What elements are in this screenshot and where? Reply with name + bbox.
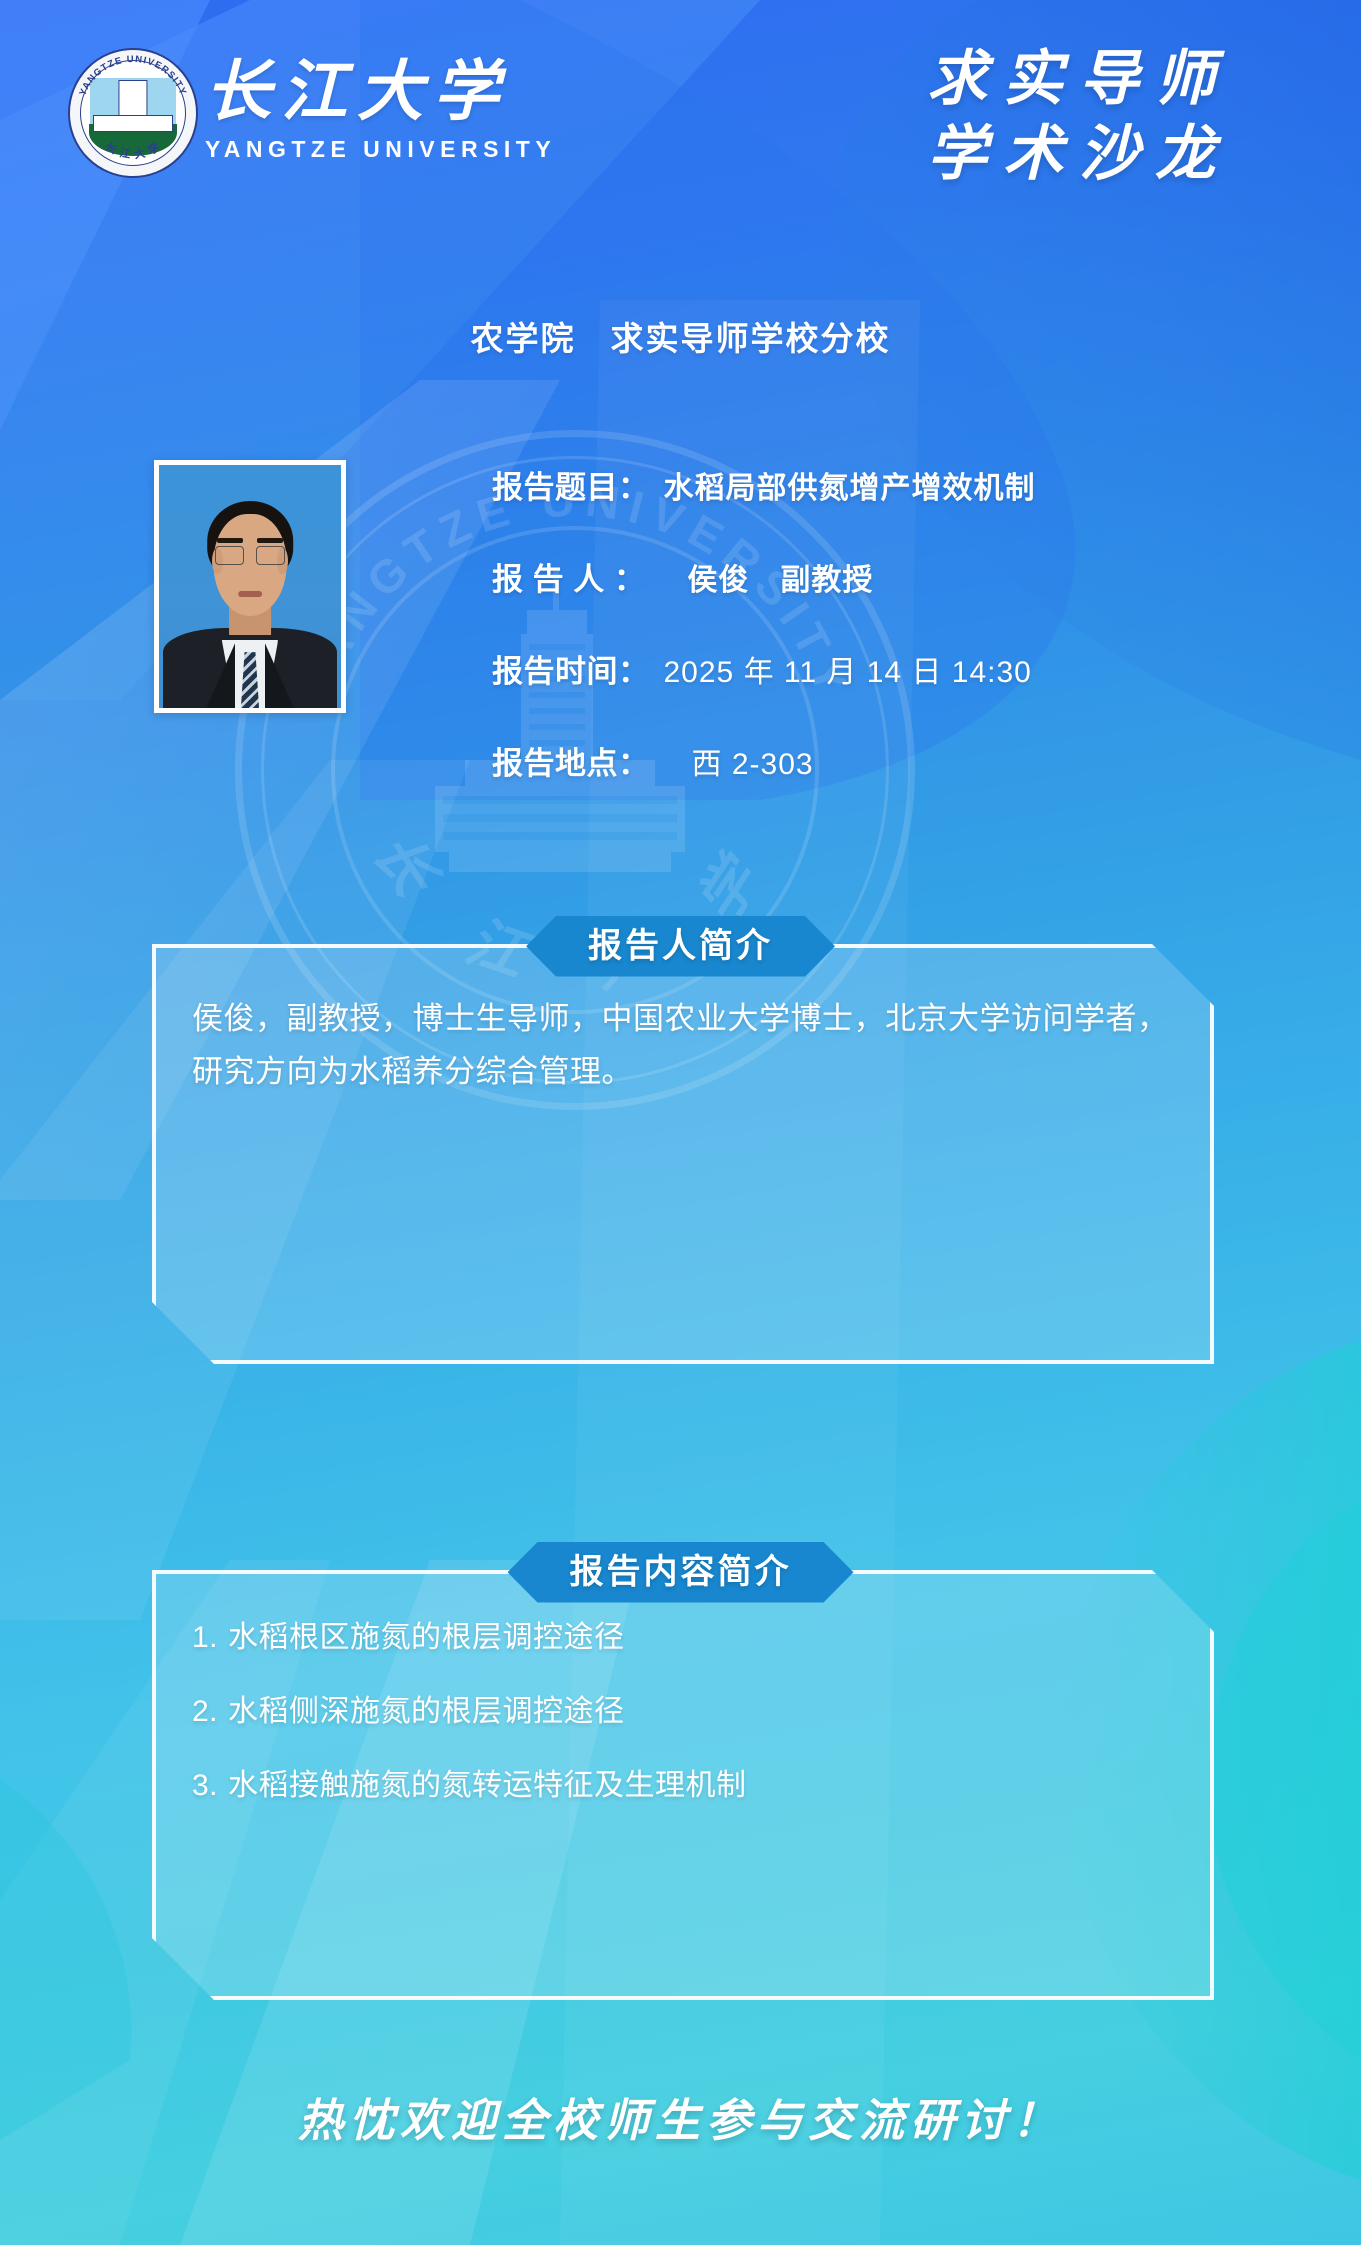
svg-text:YANGTZE UNIVERSITY: YANGTZE UNIVERSITY — [77, 54, 188, 98]
report-speaker-label: 报 告 人 ： — [492, 554, 645, 599]
department-subtitle: 农学院 求实导师学校分校 — [0, 312, 1361, 360]
list-item: 2.水稻侧深施氮的根层调控途径 — [192, 1692, 1174, 1731]
speaker-bio-banner: 报告人简介 — [526, 916, 835, 977]
salon-title-block: 求实导师 学术沙龙 — [869, 42, 1289, 192]
list-item: 3.水稻接触施氮的氮转运特征及生理机制 — [192, 1766, 1174, 1805]
info-row-place: 报告地点： 西 2-303 — [492, 738, 1282, 783]
info-row-title: 报告题目： 水稻局部供氮增产增效机制 — [492, 462, 1282, 507]
list-item-number: 3. — [192, 1769, 218, 1802]
list-item-number: 2. — [192, 1695, 218, 1728]
speaker-photo — [159, 465, 341, 708]
university-logo: YANGTZE UNIVERSITY 长 江 大 学 — [68, 48, 198, 178]
list-item: 1.水稻根区施氮的根层调控途径 — [192, 1618, 1174, 1657]
speaker-photo-frame — [154, 460, 346, 713]
list-item-text: 水稻接触施氮的氮转运特征及生理机制 — [228, 1769, 747, 1802]
report-time-label: 报告时间： — [492, 646, 650, 691]
report-content-list: 1.水稻根区施氮的根层调控途径 2.水稻侧深施氮的根层调控途径 3.水稻接触施氮… — [156, 1574, 1210, 1805]
university-name-block: 长江大学 YANGTZE UNIVERSITY — [205, 60, 625, 163]
info-row-time: 报告时间： 2025 年 11 月 14 日 14:30 — [492, 646, 1282, 691]
report-title-label: 报告题目： — [492, 462, 650, 507]
list-item-number: 1. — [192, 1621, 218, 1654]
salon-title-line2: 学术沙龙 — [869, 117, 1289, 192]
university-name-en: YANGTZE UNIVERSITY — [205, 136, 625, 163]
report-content-banner: 报告内容简介 — [508, 1542, 854, 1603]
salon-title-line1: 求实导师 — [869, 42, 1289, 117]
info-row-speaker: 报 告 人 ： 侯俊 副教授 — [492, 554, 1282, 599]
report-speaker-value: 侯俊 副教授 — [687, 555, 873, 599]
report-title-value: 水稻局部供氮增产增效机制 — [664, 463, 1036, 507]
poster-root: YANGTZE UNIVERSITY 长 江 大 学 — [0, 0, 1361, 2245]
report-place-value: 西 2-303 — [692, 739, 814, 783]
list-item-text: 水稻侧深施氮的根层调控途径 — [228, 1695, 625, 1728]
report-info-block: 报告题目： 水稻局部供氮增产增效机制 报 告 人 ： 侯俊 副教授 报告时间： … — [492, 462, 1282, 783]
report-place-label: 报告地点： — [492, 738, 650, 783]
svg-text:长 江 大 学: 长 江 大 学 — [103, 139, 163, 161]
footer-welcome-text: 热忱欢迎全校师生参与交流研讨！ — [0, 2084, 1361, 2149]
list-item-text: 水稻根区施氮的根层调控途径 — [228, 1621, 625, 1654]
university-name-cn: 长江大学 — [205, 60, 625, 126]
speaker-bio-text: 侯俊，副教授，博士生导师，中国农业大学博士，北京大学访问学者，研究方向为水稻养分… — [192, 992, 1174, 1099]
report-time-value: 2025 年 11 月 14 日 14:30 — [664, 647, 1032, 691]
report-content-panel: 1.水稻根区施氮的根层调控途径 2.水稻侧深施氮的根层调控途径 3.水稻接触施氮… — [152, 1570, 1214, 2000]
logo-arc-text: YANGTZE UNIVERSITY 长 江 大 学 — [68, 48, 198, 178]
speaker-bio-panel: 侯俊，副教授，博士生导师，中国农业大学博士，北京大学访问学者，研究方向为水稻养分… — [152, 944, 1214, 1364]
